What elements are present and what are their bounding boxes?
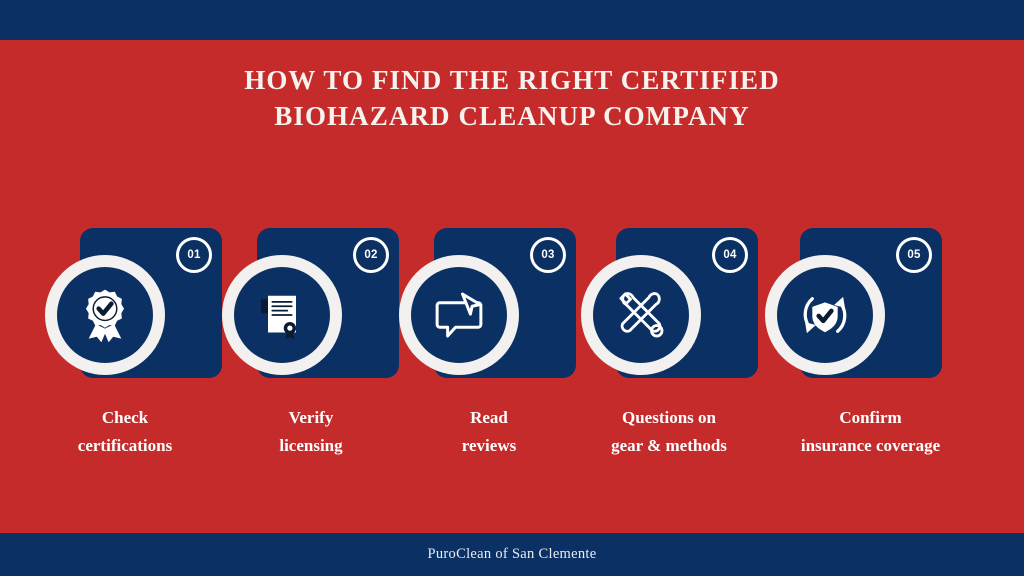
step-icon-circle-1 [45, 255, 165, 375]
step-caption-3-line-2: reviews [398, 432, 580, 460]
step-icon-circle-5 [765, 255, 885, 375]
step-card-5: 05 [800, 228, 942, 378]
step-caption-1-line-1: Check [34, 404, 216, 432]
step-number-badge-1: 01 [176, 237, 212, 273]
step-number-badge-2: 02 [353, 237, 389, 273]
step-icon-circle-4 [581, 255, 701, 375]
wrench-screwdriver-tools-icon [613, 287, 669, 343]
step-caption-5-line-1: Confirm [758, 404, 983, 432]
step-card-1: 01 [80, 228, 222, 378]
page-title-line-1: HOW TO FIND THE RIGHT CERTIFIED [0, 62, 1024, 98]
step-caption-2: Verify licensing [220, 404, 402, 460]
step-number-badge-3: 03 [530, 237, 566, 273]
shield-check-refresh-icon [796, 286, 854, 344]
step-caption-3-line-1: Read [398, 404, 580, 432]
step-card-3: 03 [434, 228, 576, 378]
step-caption-4: Questions on gear & methods [578, 404, 760, 460]
page-title: HOW TO FIND THE RIGHT CERTIFIED BIOHAZAR… [0, 62, 1024, 134]
step-card-2: 02 [257, 228, 399, 378]
footer-brand-text: PuroClean of San Clemente [428, 546, 597, 563]
step-caption-1: Check certifications [34, 404, 216, 460]
page-title-line-2: BIOHAZARD CLEANUP COMPANY [0, 98, 1024, 134]
speech-bubble-cursor-icon [431, 287, 487, 343]
step-icon-circle-3 [399, 255, 519, 375]
step-icon-circle-2 [222, 255, 342, 375]
step-captions: Check certifications Verify licensing Re… [0, 404, 1024, 474]
award-rosette-check-icon [76, 286, 134, 344]
step-caption-3: Read reviews [398, 404, 580, 460]
top-accent-bar [0, 0, 1024, 40]
step-caption-2-line-1: Verify [220, 404, 402, 432]
step-caption-5-line-2: insurance coverage [758, 432, 983, 460]
step-caption-4-line-1: Questions on [578, 404, 760, 432]
footer-bar: PuroClean of San Clemente [0, 533, 1024, 576]
step-caption-1-line-2: certifications [34, 432, 216, 460]
steps-row: 01 02 [0, 228, 1024, 388]
step-card-4: 04 [616, 228, 758, 378]
step-number-badge-4: 04 [712, 237, 748, 273]
step-caption-2-line-2: licensing [220, 432, 402, 460]
certificate-document-seal-icon [254, 287, 310, 343]
step-caption-5: Confirm insurance coverage [758, 404, 983, 460]
step-number-badge-5: 05 [896, 237, 932, 273]
step-caption-4-line-2: gear & methods [578, 432, 760, 460]
